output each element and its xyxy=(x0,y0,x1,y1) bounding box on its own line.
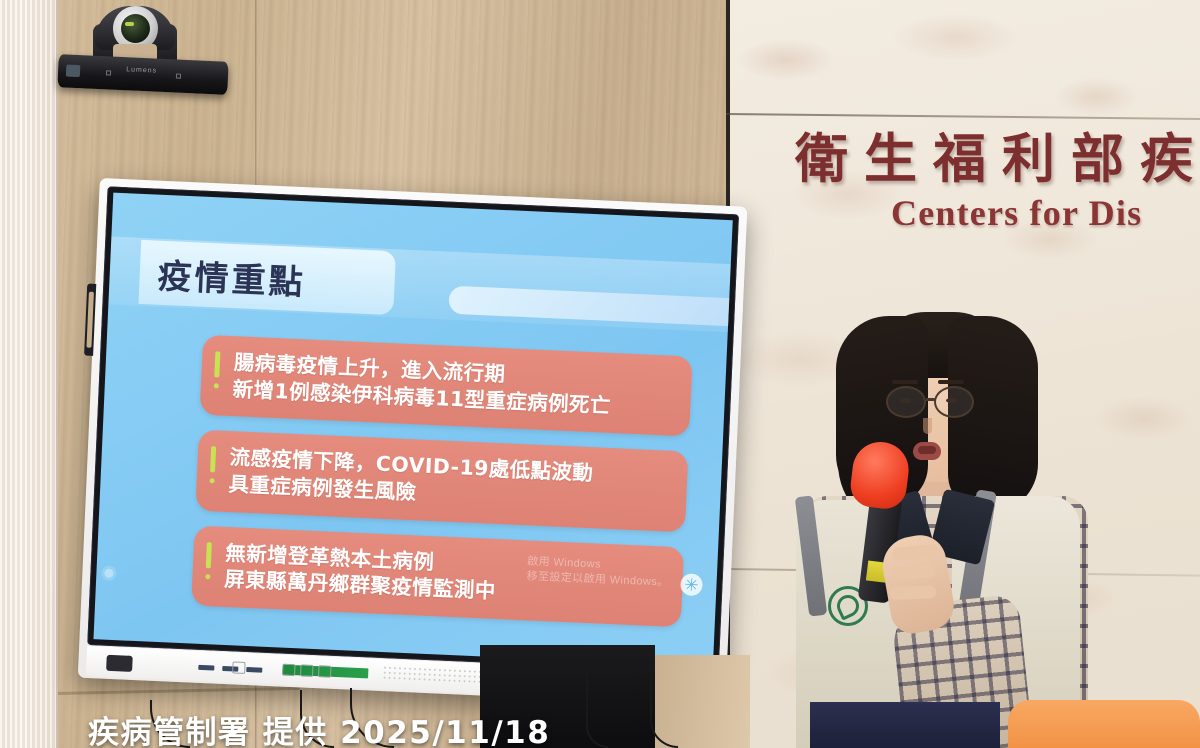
bullet-item: 腸病毒疫情上升，進入流行期 新增1例感染伊科病毒11型重症病例死亡 xyxy=(200,335,693,437)
trousers xyxy=(810,702,1000,748)
photo-caption: 疾病管制署 提供 2025/11/18 xyxy=(88,707,550,748)
presentation-screen: 疫情重點 腸病毒疫情上升，進入流行期 新增1例感染伊科病毒11型重症病例死亡 流… xyxy=(93,193,732,667)
soundbar-brand-label: Lumens xyxy=(126,66,157,74)
exclamation-mark-icon xyxy=(210,446,216,472)
eyeglasses-lens-left xyxy=(886,386,926,418)
speaker-grill-left xyxy=(382,665,481,685)
usb-port-icon[interactable] xyxy=(198,665,214,671)
cable xyxy=(586,672,608,748)
usb-port-icon[interactable] xyxy=(246,667,262,673)
signage-english-text: Centers for Dis xyxy=(891,192,1200,234)
control-button-icon[interactable] xyxy=(282,664,296,677)
control-button-icon[interactable] xyxy=(318,665,332,678)
soundbar-mic-dot-right xyxy=(176,73,181,78)
slide-title-pill: 疫情重點 xyxy=(138,240,396,315)
eyebrow-right xyxy=(938,380,964,384)
orange-chair xyxy=(1008,700,1200,748)
finger xyxy=(890,585,936,600)
control-button-icon[interactable] xyxy=(300,664,314,677)
soundbar-mic-dot-left xyxy=(106,70,111,75)
eyebrow-left xyxy=(892,380,918,384)
exclamation-mark-icon xyxy=(206,542,212,568)
soundbar-indicator-icon xyxy=(66,65,81,78)
eyeglasses-lens-right xyxy=(934,386,974,418)
port-frame-icon xyxy=(232,661,246,674)
wall-signage: 衛生福利部疾 Centers for Dis xyxy=(795,132,1200,234)
screen-touch-dot xyxy=(104,569,113,578)
camera-lens-icon xyxy=(121,14,150,43)
slide-bullet-list: 腸病毒疫情上升，進入流行期 新增1例感染伊科病毒11型重症病例死亡 流感疫情下降… xyxy=(190,335,692,642)
speaker-person xyxy=(780,300,1110,748)
press-conference-scene: 衛生福利部疾 Centers for Dis Lumens 疫情重點 腸病 xyxy=(0,0,1200,748)
nose xyxy=(923,418,932,434)
snowflake-icon: ✳ xyxy=(680,573,703,596)
left-pillar xyxy=(0,0,58,748)
exclamation-mark-icon xyxy=(214,351,220,377)
bullet-item: 流感疫情下降，COVID-19處低點波動 具重症病例發生風險 xyxy=(195,430,688,532)
eyeglasses-bridge xyxy=(926,398,936,401)
signage-chinese-text: 衛生福利部疾 xyxy=(795,132,1200,188)
hdmi-plug-icon xyxy=(106,655,133,672)
camera-lens-glint xyxy=(125,22,134,26)
windows-activation-watermark: 啟用 Windows 移至設定以啟用 Windows。 xyxy=(526,555,669,591)
slide-title: 疫情重點 xyxy=(157,248,307,304)
mouth-inner xyxy=(918,446,936,454)
cable xyxy=(650,666,678,748)
